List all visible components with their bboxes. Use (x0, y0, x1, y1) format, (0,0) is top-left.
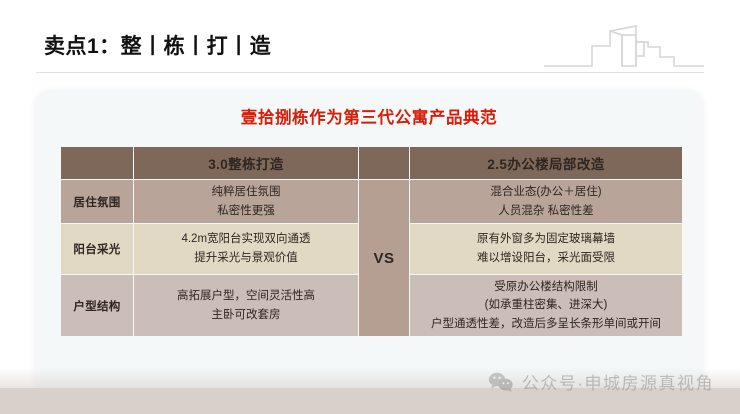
row-right-content: 受原办公楼结构限制 (如承重柱密集、进深大) 户型通透性差，改造后多呈长条形单间… (410, 275, 682, 336)
row-right-content: 原有外窗多为固定玻璃幕墙 难以增设阳台，采光面受限 (410, 224, 682, 274)
text-line: 户型通透性差，改造后多呈长条形单间或开间 (410, 315, 682, 334)
row-right-content: 混合业态(办公＋居住) 人员混杂 私密性差 (410, 180, 682, 223)
text-line: 难以增设阳台，采光面受限 (410, 249, 682, 268)
title-divider (36, 72, 704, 73)
page-title: 卖点1：整丨栋丨打丨造 (44, 30, 271, 60)
row-category: 居住氛围 (61, 180, 133, 223)
header-cell-blank (61, 147, 133, 179)
city-skyline-icon (544, 4, 704, 74)
text-line: 私密性更强 (134, 202, 358, 221)
slide-root: 卖点1：整丨栋丨打丨造 壹拾捌栋作为第三代公寓产品典范 3.0整栋打造 (0, 0, 740, 414)
vs-badge: VS (359, 180, 409, 336)
table-header-row: 3.0整栋打造 2.5办公楼局部改造 (61, 147, 682, 179)
text-line: 混合业态(办公＋居住) (410, 183, 682, 202)
text-line: 受原办公楼结构限制 (410, 278, 682, 297)
row-left-content: 高拓展户型，空间灵活性高 主卧可改套房 (134, 275, 358, 336)
text-line: 提升采光与景观价值 (134, 249, 358, 268)
text-line: 高拓展户型，空间灵活性高 (134, 287, 358, 306)
bottom-gradient (0, 368, 740, 388)
text-line: 人员混杂 私密性差 (410, 202, 682, 221)
text-line: 4.2m宽阳台实现双向通透 (134, 230, 358, 249)
row-left-content: 4.2m宽阳台实现双向通透 提升采光与景观价值 (134, 224, 358, 274)
header-cell-left: 3.0整栋打造 (134, 147, 358, 179)
header-cell-right: 2.5办公楼局部改造 (410, 147, 682, 179)
row-category: 阳台采光 (61, 224, 133, 274)
content-card: 壹拾捌栋作为第三代公寓产品典范 3.0整栋打造 2.5办公楼局部改造 居住氛围 … (36, 90, 702, 392)
bottom-strip (0, 388, 740, 414)
comparison-table: 3.0整栋打造 2.5办公楼局部改造 居住氛围 纯粹居住氛围 私密性更强 VS … (60, 146, 683, 337)
text-line: (如承重柱密集、进深大) (410, 296, 682, 315)
table-row: 居住氛围 纯粹居住氛围 私密性更强 VS 混合业态(办公＋居住) 人员混杂 私密… (61, 180, 682, 223)
text-line: 纯粹居住氛围 (134, 183, 358, 202)
slide-header: 卖点1：整丨栋丨打丨造 (0, 0, 740, 74)
text-line: 主卧可改套房 (134, 306, 358, 325)
header-cell-vs-spacer (359, 147, 409, 179)
text-line: 原有外窗多为固定玻璃幕墙 (410, 230, 682, 249)
row-left-content: 纯粹居住氛围 私密性更强 (134, 180, 358, 223)
row-category: 户型结构 (61, 275, 133, 336)
card-title: 壹拾捌栋作为第三代公寓产品典范 (36, 104, 702, 128)
